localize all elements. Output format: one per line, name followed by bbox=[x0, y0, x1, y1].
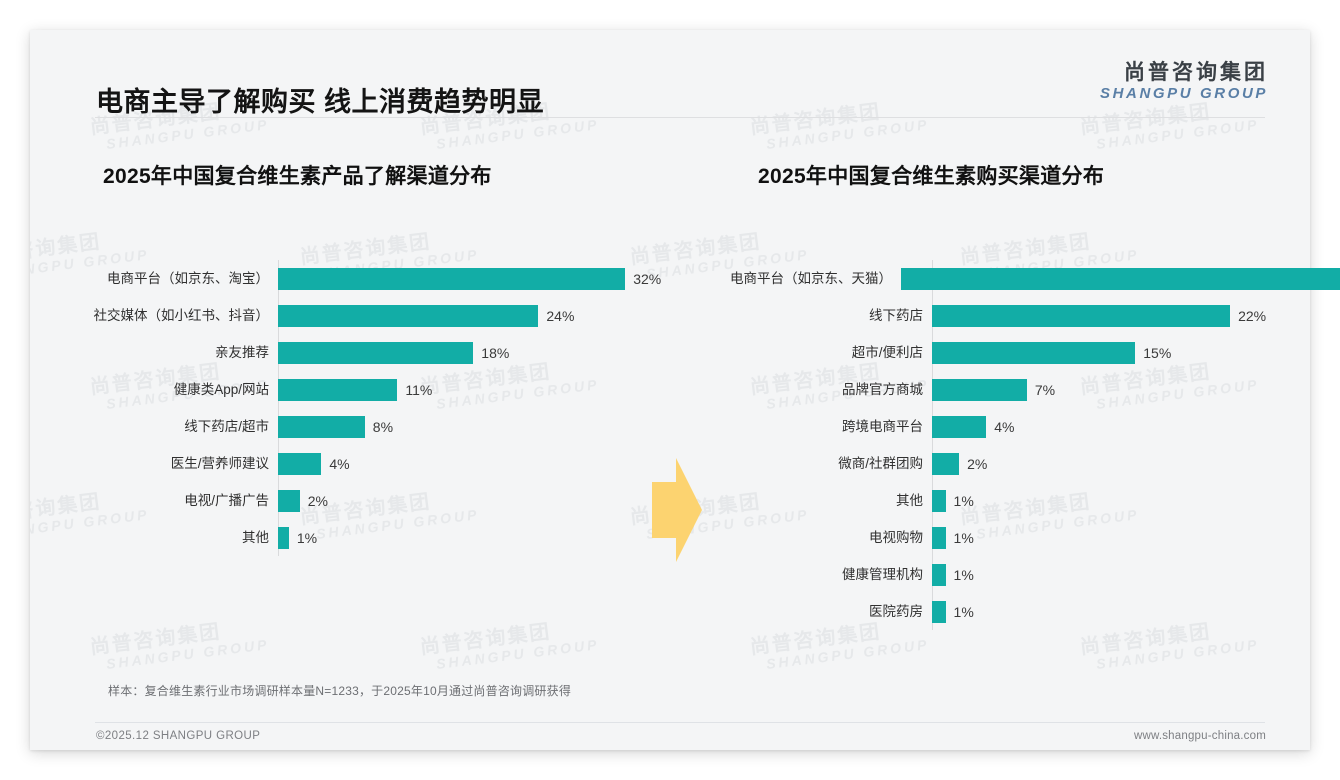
bar bbox=[932, 453, 959, 475]
bar-row: 线下药店22% bbox=[730, 297, 1290, 334]
bar-category-label: 品牌官方商城 bbox=[730, 383, 932, 397]
bar-value-label: 22% bbox=[1238, 309, 1266, 323]
brand-logo: 尚普咨询集团 SHANGPU GROUP bbox=[1100, 62, 1268, 102]
bar-track: 7% bbox=[932, 371, 1290, 408]
bar-row: 健康类App/网站11% bbox=[70, 371, 670, 408]
bar-category-label: 亲友推荐 bbox=[70, 346, 278, 360]
bar-value-label: 2% bbox=[308, 494, 328, 508]
footer-website[interactable]: www.shangpu-china.com bbox=[1134, 730, 1266, 742]
bar-category-label: 健康管理机构 bbox=[730, 568, 932, 582]
bar-row: 亲友推荐18% bbox=[70, 334, 670, 371]
chart-title-purchase: 2025年中国复合维生素购买渠道分布 bbox=[758, 160, 1290, 190]
bar-row: 微商/社群团购2% bbox=[730, 445, 1290, 482]
bar-track: 1% bbox=[278, 519, 670, 556]
bar-value-label: 1% bbox=[954, 605, 974, 619]
charts-container: 2025年中国复合维生素产品了解渠道分布 电商平台（如京东、淘宝）32%社交媒体… bbox=[30, 30, 1310, 750]
page-title: 电商主导了解购买 线上消费趋势明显 bbox=[96, 80, 544, 119]
bar-value-label: 2% bbox=[967, 457, 987, 471]
bar-chart-purchase: 电商平台（如京东、天猫）46%线下药店22%超市/便利店15%品牌官方商城7%跨… bbox=[730, 260, 1290, 630]
bar-category-label: 线下药店 bbox=[730, 309, 932, 323]
bar bbox=[278, 305, 538, 327]
bar-value-label: 1% bbox=[954, 568, 974, 582]
bar-track: 46% bbox=[901, 260, 1340, 297]
bar-track: 4% bbox=[932, 408, 1290, 445]
bar-track: 2% bbox=[932, 445, 1290, 482]
bar-track: 18% bbox=[278, 334, 670, 371]
bar-category-label: 电视购物 bbox=[730, 531, 932, 545]
logo-english-text: SHANGPU GROUP bbox=[1100, 86, 1268, 102]
logo-chinese-text: 尚普咨询集团 bbox=[1100, 62, 1268, 84]
bar-category-label: 电视/广播广告 bbox=[70, 494, 278, 508]
bar-row: 跨境电商平台4% bbox=[730, 408, 1290, 445]
bar-category-label: 线下药店/超市 bbox=[70, 420, 278, 434]
bar-category-label: 其他 bbox=[730, 494, 932, 508]
bar-track: 1% bbox=[932, 593, 1290, 630]
bar bbox=[932, 379, 1027, 401]
bar-track: 22% bbox=[932, 297, 1290, 334]
bar-track: 8% bbox=[278, 408, 670, 445]
bar-value-label: 7% bbox=[1035, 383, 1055, 397]
bar-value-label: 11% bbox=[405, 383, 432, 397]
footer-copyright: ©2025.12 SHANGPU GROUP bbox=[96, 730, 260, 742]
bar-category-label: 跨境电商平台 bbox=[730, 420, 932, 434]
bar-value-label: 1% bbox=[954, 494, 974, 508]
bar-track: 11% bbox=[278, 371, 670, 408]
chart-panel-purchase: 2025年中国复合维生素购买渠道分布 电商平台（如京东、天猫）46%线下药店22… bbox=[730, 160, 1290, 630]
bar bbox=[932, 490, 946, 512]
chart-title-awareness: 2025年中国复合维生素产品了解渠道分布 bbox=[103, 160, 670, 190]
bar bbox=[278, 379, 397, 401]
bar-category-label: 社交媒体（如小红书、抖音） bbox=[70, 309, 278, 323]
bar-row: 其他1% bbox=[730, 482, 1290, 519]
bar-category-label: 其他 bbox=[70, 531, 278, 545]
bar bbox=[278, 490, 300, 512]
source-footnote: 样本：复合维生素行业市场调研样本量N=1233，于2025年10月通过尚普咨询调… bbox=[108, 682, 571, 699]
bar-track: 2% bbox=[278, 482, 670, 519]
bar bbox=[932, 416, 986, 438]
bar bbox=[932, 305, 1230, 327]
bar-row: 医生/营养师建议4% bbox=[70, 445, 670, 482]
bar-row: 电视购物1% bbox=[730, 519, 1290, 556]
bar bbox=[278, 268, 625, 290]
bar bbox=[278, 416, 365, 438]
bar-value-label: 24% bbox=[546, 309, 574, 323]
bar-row: 社交媒体（如小红书、抖音）24% bbox=[70, 297, 670, 334]
bar-row: 品牌官方商城7% bbox=[730, 371, 1290, 408]
header-divider bbox=[95, 117, 1265, 118]
bar-value-label: 1% bbox=[297, 531, 317, 545]
bar-track: 1% bbox=[932, 482, 1290, 519]
bar-value-label: 18% bbox=[481, 346, 509, 360]
slide: 尚普咨询集团SHANGPU GROUP尚普咨询集团SHANGPU GROUP尚普… bbox=[30, 30, 1310, 750]
bar-category-label: 医生/营养师建议 bbox=[70, 457, 278, 471]
bar-value-label: 32% bbox=[633, 272, 661, 286]
bar-row: 健康管理机构1% bbox=[730, 556, 1290, 593]
bar-value-label: 4% bbox=[329, 457, 349, 471]
bar bbox=[932, 601, 946, 623]
bar-chart-awareness: 电商平台（如京东、淘宝）32%社交媒体（如小红书、抖音）24%亲友推荐18%健康… bbox=[70, 260, 670, 556]
bar-value-label: 8% bbox=[373, 420, 393, 434]
bar-row: 电商平台（如京东、天猫）46% bbox=[730, 260, 1290, 297]
bar-value-label: 15% bbox=[1143, 346, 1171, 360]
bar-row: 超市/便利店15% bbox=[730, 334, 1290, 371]
slide-footer: ©2025.12 SHANGPU GROUP www.shangpu-china… bbox=[30, 722, 1310, 750]
bar bbox=[278, 342, 473, 364]
bar bbox=[932, 564, 946, 586]
bar-category-label: 电商平台（如京东、淘宝） bbox=[70, 272, 278, 286]
bar-row: 医院药房1% bbox=[730, 593, 1290, 630]
bar-row: 其他1% bbox=[70, 519, 670, 556]
bar-category-label: 超市/便利店 bbox=[730, 346, 932, 360]
bar-row: 线下药店/超市8% bbox=[70, 408, 670, 445]
bar-category-label: 电商平台（如京东、天猫） bbox=[730, 272, 901, 286]
bar-track: 32% bbox=[278, 260, 670, 297]
bar-category-label: 医院药房 bbox=[730, 605, 932, 619]
chart-panel-awareness: 2025年中国复合维生素产品了解渠道分布 电商平台（如京东、淘宝）32%社交媒体… bbox=[70, 160, 670, 556]
bar bbox=[932, 342, 1135, 364]
bar-track: 1% bbox=[932, 519, 1290, 556]
bar-value-label: 4% bbox=[994, 420, 1014, 434]
bar-track: 1% bbox=[932, 556, 1290, 593]
bar bbox=[901, 268, 1340, 290]
bar-track: 4% bbox=[278, 445, 670, 482]
bar-category-label: 健康类App/网站 bbox=[70, 383, 278, 397]
bar-row: 电视/广播广告2% bbox=[70, 482, 670, 519]
slide-header: 电商主导了解购买 线上消费趋势明显 尚普咨询集团 SHANGPU GROUP bbox=[30, 30, 1310, 118]
bar-track: 24% bbox=[278, 297, 670, 334]
right-arrow-icon bbox=[650, 454, 704, 566]
bar-track: 15% bbox=[932, 334, 1290, 371]
bar-category-label: 微商/社群团购 bbox=[730, 457, 932, 471]
bar bbox=[278, 527, 289, 549]
bar bbox=[932, 527, 946, 549]
bar bbox=[278, 453, 321, 475]
bar-row: 电商平台（如京东、淘宝）32% bbox=[70, 260, 670, 297]
bar-value-label: 1% bbox=[954, 531, 974, 545]
